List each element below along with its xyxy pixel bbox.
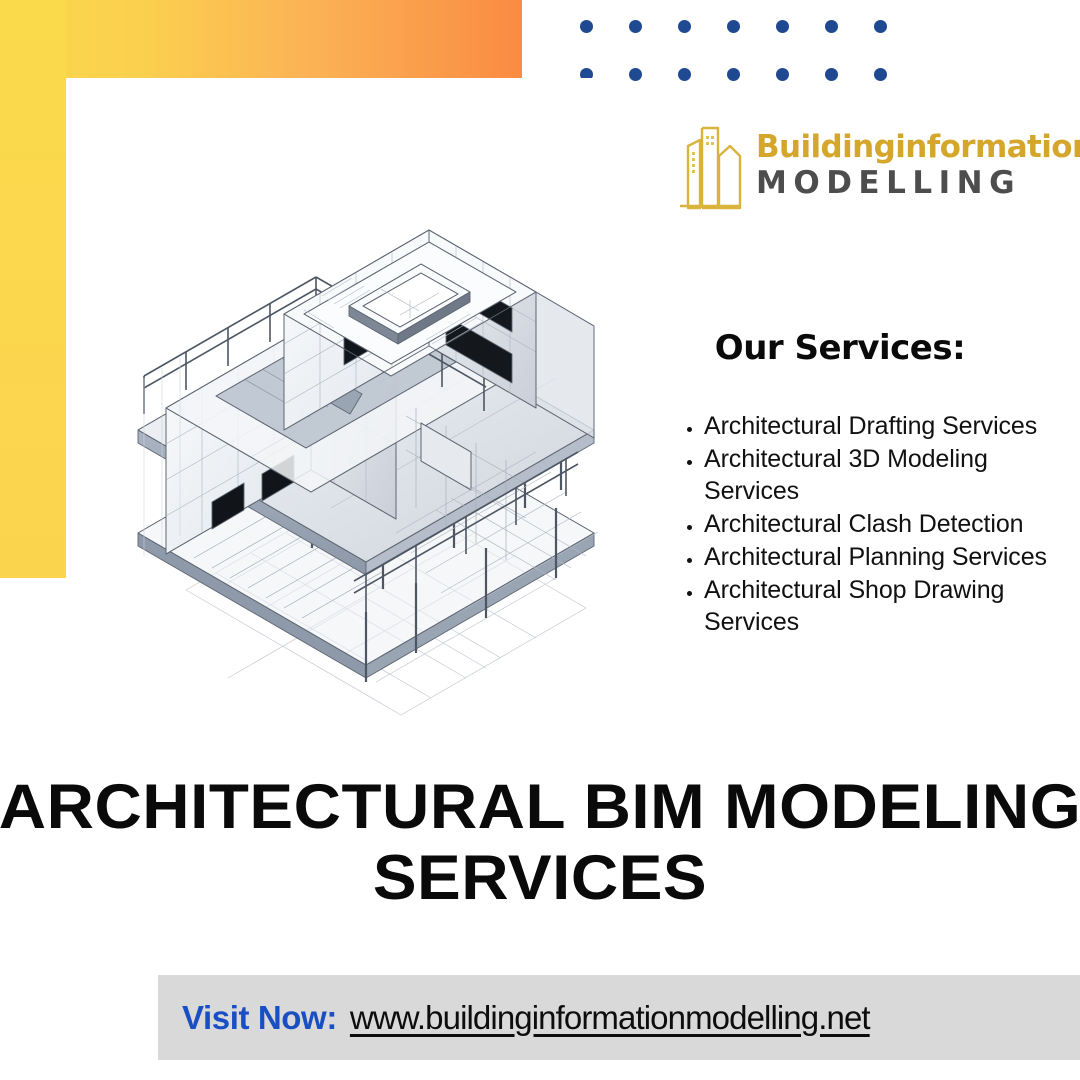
- architectural-bim-render-icon: [66, 78, 630, 752]
- building-skyline-icon: [678, 116, 742, 214]
- list-item: Architectural Clash Detection: [704, 508, 1078, 540]
- dot: [825, 68, 838, 81]
- dot: [776, 20, 789, 33]
- dot: [825, 20, 838, 33]
- dot: [629, 68, 642, 81]
- page-title: ARCHITECTURAL BIM MODELING SERVICES: [0, 772, 1080, 914]
- dot: [580, 20, 593, 33]
- list-item: Architectural 3D Modeling Services: [704, 443, 1078, 507]
- gradient-top-band: [0, 0, 522, 78]
- brand-name-line1: Buildinginformation: [756, 132, 1080, 163]
- dot-grid-decoration: [580, 20, 923, 116]
- poster-root: Buildinginformation MODELLING Our Servic…: [0, 0, 1080, 1080]
- brand-logo[interactable]: Buildinginformation MODELLING: [678, 116, 1080, 214]
- gradient-left-band: [0, 0, 66, 578]
- dot: [727, 68, 740, 81]
- brand-name-line2: MODELLING: [756, 168, 1080, 199]
- footer-banner: Visit Now: www.buildinginformationmodell…: [158, 975, 1080, 1060]
- services-heading: Our Services:: [640, 328, 1040, 368]
- dot: [678, 68, 691, 81]
- dot: [776, 68, 789, 81]
- services-list: Architectural Drafting Services Architec…: [678, 410, 1078, 639]
- visit-now-label: Visit Now:: [182, 999, 337, 1037]
- hero-render-panel: [66, 78, 630, 752]
- list-item: Architectural Drafting Services: [704, 410, 1078, 442]
- website-url-link[interactable]: www.buildinginformationmodelling.net: [350, 999, 870, 1037]
- dot: [678, 20, 691, 33]
- list-item: Architectural Planning Services: [704, 541, 1078, 573]
- dot: [727, 20, 740, 33]
- page-title-line2: SERVICES: [0, 843, 1080, 914]
- dot: [629, 20, 642, 33]
- dot: [874, 68, 887, 81]
- list-item: Architectural Shop Drawing Services: [704, 574, 1078, 638]
- dot: [874, 20, 887, 33]
- brand-wordmark: Buildinginformation MODELLING: [756, 132, 1080, 199]
- page-title-line1: ARCHITECTURAL BIM MODELING: [0, 772, 1080, 843]
